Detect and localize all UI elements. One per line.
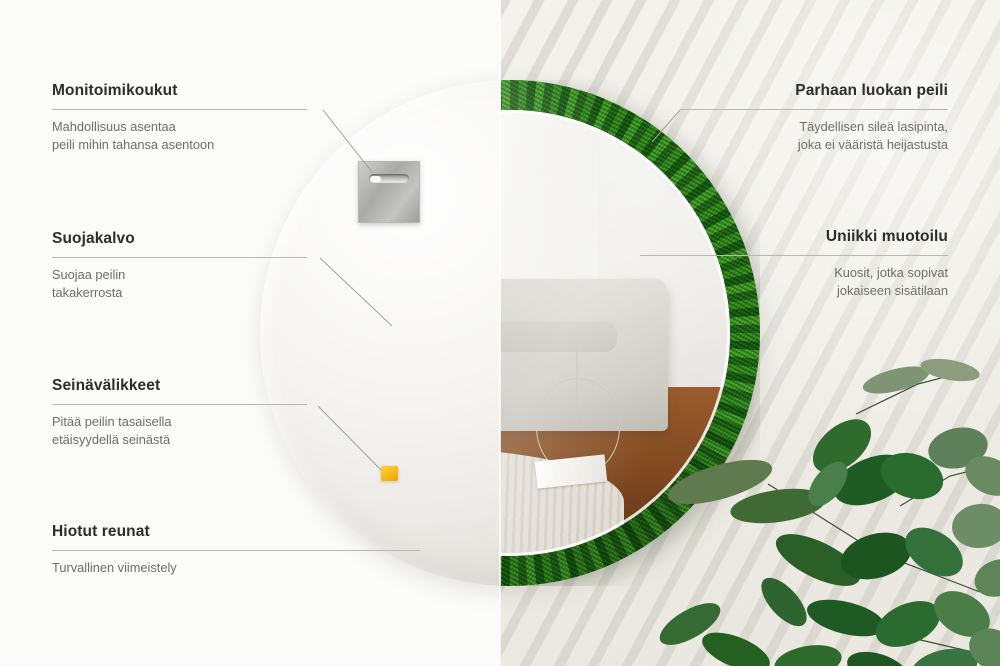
callout-title: Parhaan luokan peili [680,82,948,100]
mounting-bracket-icon [358,161,420,223]
callout-title: Uniikki muotoilu [640,228,948,246]
callout-title: Seinävälikkeet [52,377,307,395]
callout-hiotut-reunat: Hiotut reunat Turvallinen viimeistely [52,523,420,577]
callout-desc: Mahdollisuus asentaa peili mihin tahansa… [52,118,307,154]
callout-rule [52,257,307,258]
callout-desc: Turvallinen viimeistely [52,559,420,577]
infographic-stage: Monitoimikoukut Mahdollisuus asentaa pei… [0,0,1000,666]
callout-monitoimikoukut: Monitoimikoukut Mahdollisuus asentaa pei… [52,82,307,154]
callout-rule [52,550,420,551]
callout-desc: Täydellisen sileä lasipinta, joka ei vää… [680,118,948,154]
callout-desc: Suojaa peilin takakerrosta [52,266,307,302]
bracket-keyhole-slot [369,174,409,183]
callout-rule [640,255,948,256]
callout-rule [680,109,948,110]
wall-spacer-icon [381,466,398,481]
panel-split-line [499,0,501,666]
callout-seinavalikkeet: Seinävälikkeet Pitää peilin tasaisella e… [52,377,307,449]
callout-rule [52,404,307,405]
callout-title: Monitoimikoukut [52,82,307,100]
callout-parhaan-luokan-peili: Parhaan luokan peili Täydellisen sileä l… [680,82,948,154]
callout-desc: Kuosit, jotka sopivat jokaiseen sisätila… [640,264,948,300]
callout-title: Hiotut reunat [52,523,420,541]
foliage-decoration [650,356,1000,666]
foliage-svg [650,356,1000,666]
callout-rule [52,109,307,110]
callout-uniikki-muotoilu: Uniikki muotoilu Kuosit, jotka sopivat j… [640,228,948,300]
callout-title: Suojakalvo [52,230,307,248]
callout-desc: Pitää peilin tasaisella etäisyydellä sei… [52,413,307,449]
callout-suojakalvo: Suojakalvo Suojaa peilin takakerrosta [52,230,307,302]
